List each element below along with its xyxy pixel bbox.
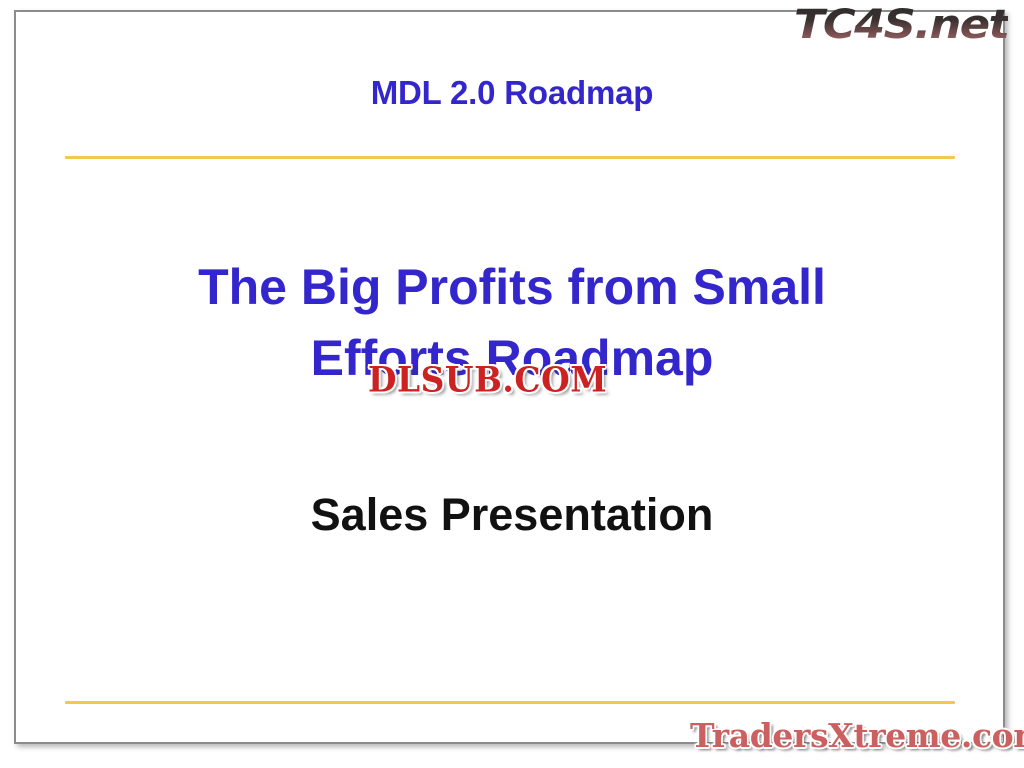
divider-top: [65, 156, 955, 159]
watermark-tc4s: TC4S.net: [794, 2, 1008, 48]
divider-bottom: [65, 701, 955, 704]
main-heading-line-1: The Big Profits from Small: [120, 252, 904, 323]
subtitle: Sales Presentation: [120, 489, 904, 541]
watermark-dlsub: DLSUB.COM: [368, 360, 607, 400]
watermark-tradersxtreme: TradersXtreme.com: [690, 716, 1024, 755]
page-title: MDL 2.0 Roadmap: [0, 74, 1024, 112]
